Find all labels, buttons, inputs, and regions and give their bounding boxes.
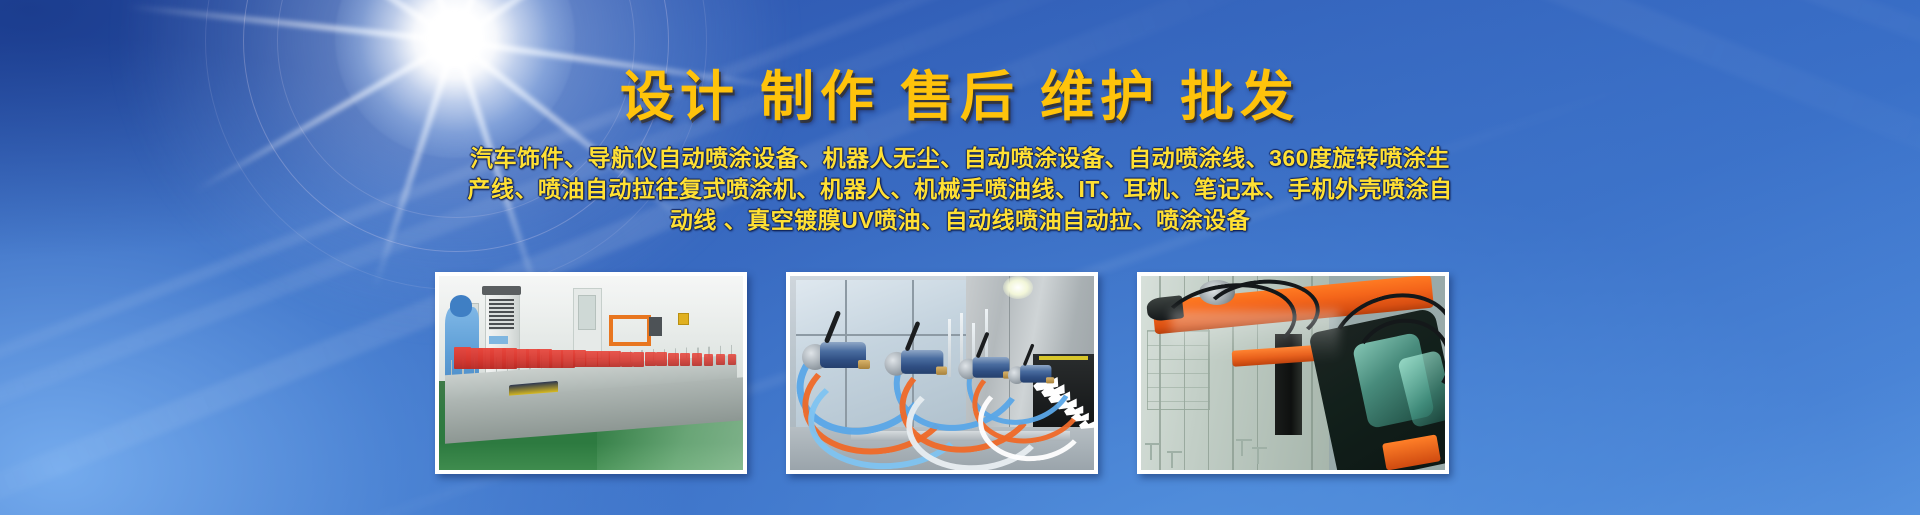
banner-photo-gallery	[0, 272, 1920, 477]
photo3-cables	[1141, 276, 1445, 470]
banner-subtitle: 汽车饰件、导航仪自动喷涂设备、机器人无尘、自动喷涂设备、自动喷涂线、360度旋转…	[430, 143, 1490, 236]
headline-word: 批发	[1180, 67, 1300, 127]
promotional-banner: 设计制作售后维护批发 汽车饰件、导航仪自动喷涂设备、机器人无尘、自动喷涂设备、自…	[0, 0, 1920, 515]
photo-image	[1141, 276, 1445, 470]
headline-word: 维护	[1040, 67, 1160, 127]
light-streak	[852, 0, 1920, 56]
photo3-spray-mist	[1171, 311, 1338, 361]
subtitle-line: 动线 、真空镀膜UV喷油、自动线喷油自动拉、喷涂设备	[430, 205, 1490, 236]
banner-headline: 设计制作售后维护批发	[0, 52, 1920, 131]
photo-spray-gun-array[interactable]	[786, 272, 1098, 474]
headline-word: 设计	[620, 67, 740, 127]
photo-image	[439, 276, 743, 470]
subtitle-line: 汽车饰件、导航仪自动喷涂设备、机器人无尘、自动喷涂设备、自动喷涂线、360度旋转…	[430, 143, 1490, 174]
flare-ray	[367, 0, 458, 42]
photo1-red-fixtures	[439, 276, 743, 470]
flare-ray	[452, 0, 570, 42]
flare-ray	[221, 0, 456, 43]
flare-ray	[126, 4, 455, 44]
photo-image	[790, 276, 1094, 470]
headline-word: 售后	[900, 67, 1020, 127]
photo-coating-production-line[interactable]	[435, 272, 747, 474]
photo-spray-robot-arm[interactable]	[1137, 272, 1449, 474]
flare-ray	[453, 0, 672, 43]
photo2-spray-guns	[790, 276, 1094, 470]
subtitle-line: 产线、喷油自动拉往复式喷涂机、机器人、机械手喷油线、IT、耳机、笔记本、手机外壳…	[430, 174, 1490, 205]
headline-word: 制作	[760, 67, 880, 127]
